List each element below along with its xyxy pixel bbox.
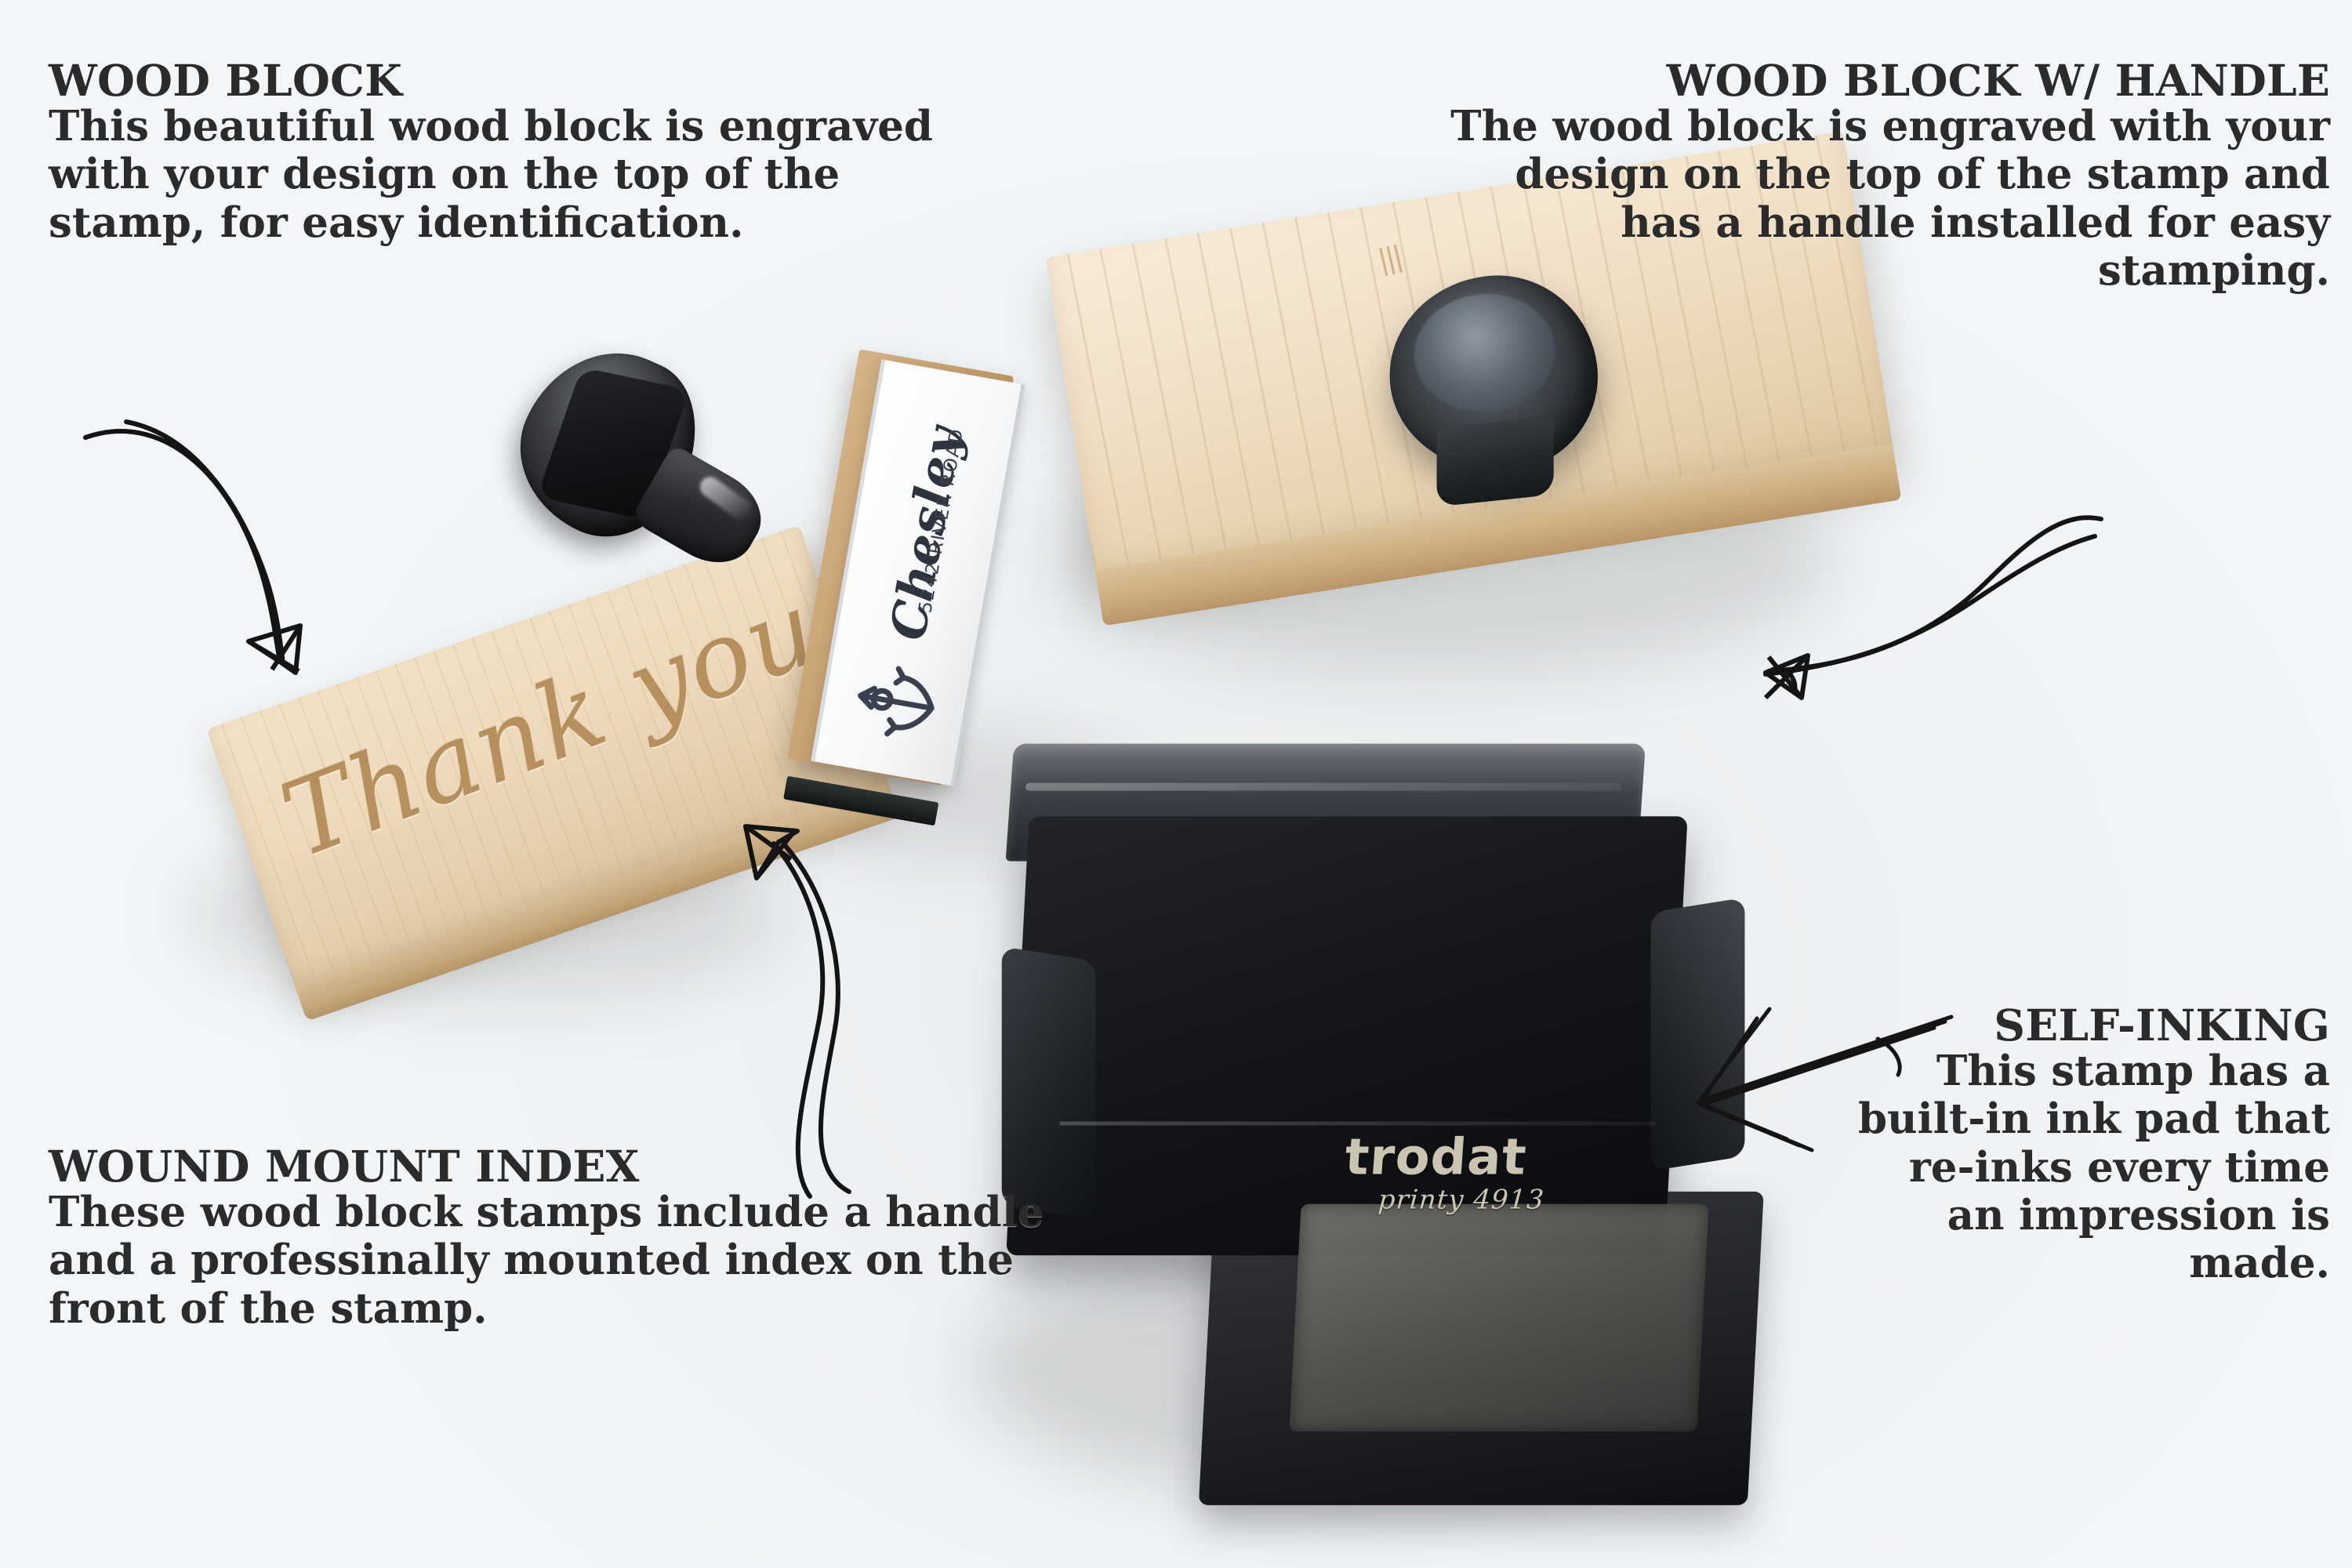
callout-self-inking-heading: SELF-INKING [1844,1004,2330,1047]
knob-stem [1437,416,1554,506]
callout-wood-block-heading: WOOD BLOCK [49,59,974,103]
callout-wound-mount-index-body: These wood block stamps include a handle… [49,1189,1091,1333]
trodat-lid-line [1025,783,1621,791]
callout-wood-block-body: This beautiful wood block is engraved wi… [49,103,974,247]
callout-wood-block-with-handle-body: The wood block is engraved with your des… [1436,103,2330,295]
wood-block-handle-knob [1380,263,1639,521]
callout-wood-block-with-handle-heading: WOOD BLOCK W/ HANDLE [1436,59,2330,103]
trodat-index-window [1289,1204,1708,1432]
callout-self-inking: SELF-INKING This stamp has a built-in in… [1844,1004,2330,1287]
trodat-model-name: printy 4913 [1377,1184,1594,1215]
trodat-seam [1060,1121,1656,1125]
self-inking-stamp-photo: trodat printy 4913 [978,699,1781,1552]
trodat-brand-name: trodat [1343,1132,1597,1182]
curved-arrow-left-icon [1709,502,2117,706]
callout-wood-block-with-handle: WOOD BLOCK W/ HANDLE The wood block is e… [1436,59,2330,295]
trodat-branding: trodat printy 4913 [1341,1132,1598,1218]
curved-arrow-down-icon [74,400,404,713]
trodat-right-wing [1650,898,1744,1171]
callout-self-inking-body: This stamp has a built-in ink pad that r… [1844,1047,2330,1287]
infographic-canvas: Thank you! Chesley 5242 RIVER ROAD ||| [0,0,2352,1568]
callout-wound-mount-index: WOUND MOUNT INDEX These wood block stamp… [49,1145,1091,1333]
callout-wound-mount-index-heading: WOUND MOUNT INDEX [49,1145,1091,1189]
wound-mount-index-stamp-photo: Chesley 5242 RIVER ROAD [771,347,1040,814]
callout-wood-block: WOOD BLOCK This beautiful wood block is … [49,59,974,247]
anchor-arrow-glyph-icon [848,656,946,749]
